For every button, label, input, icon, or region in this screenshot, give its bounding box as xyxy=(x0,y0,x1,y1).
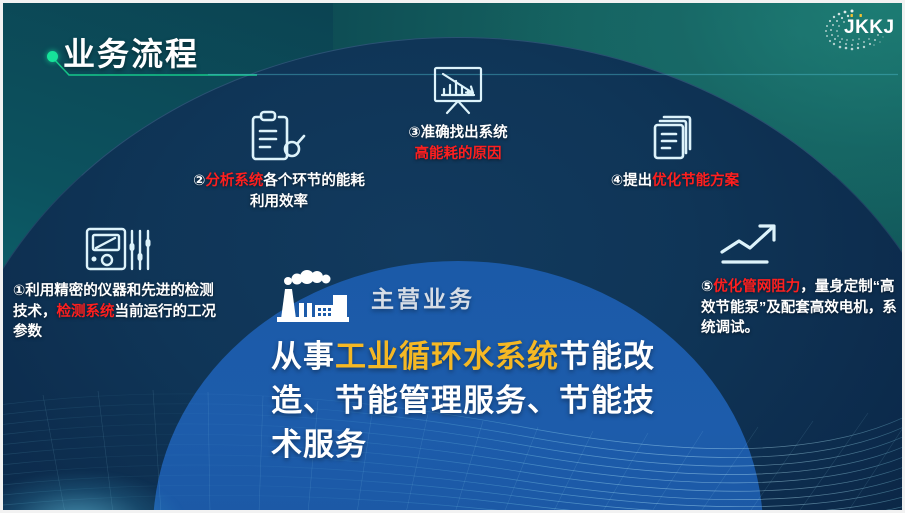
background-glow-bottom-left xyxy=(0,420,273,513)
main-business-header: 主营业务 xyxy=(271,265,671,329)
flow-item-2-caption: ②分析系统各个环节的能耗利用效率 xyxy=(189,171,369,212)
flow-item-5-caption: ⑤优化管网阻力，量身定制“高效节能泵”及配套高效电机，系统调试。 xyxy=(701,277,901,339)
flow-item-5-part-1: 优化管网阻力 xyxy=(713,279,800,295)
factory-icon xyxy=(271,267,357,327)
flow-item-4-part-1: 优化节能方案 xyxy=(652,173,739,189)
main-business-label: 主营业务 xyxy=(371,280,475,314)
title-rule-extension xyxy=(208,73,898,76)
main-business-part-0: 从事 xyxy=(271,339,335,374)
flow-item-3[interactable]: ③准确找出系统高能耗的原因 xyxy=(363,65,553,164)
documents-icon xyxy=(649,111,701,163)
flow-item-4-part-0: ④提出 xyxy=(611,173,652,189)
main-business-body: 从事工业循环水系统节能改造、节能管理服务、节能技术服务 xyxy=(271,335,671,467)
flow-item-5-part-0: ⑤ xyxy=(701,279,713,295)
flow-item-3-caption: ③准确找出系统高能耗的原因 xyxy=(363,123,553,164)
trend-up-icon xyxy=(717,221,789,271)
flow-item-4[interactable]: ④提出优化节能方案 xyxy=(575,111,775,192)
main-business-block: 主营业务 从事工业循环水系统节能改造、节能管理服务、节能技术服务 xyxy=(271,265,671,467)
flow-item-3-part-0: ③准确找出系统 xyxy=(363,123,553,144)
flow-item-1[interactable]: ①利用精密的仪器和先进的检测技术，检测系统当前运行的工况参数 xyxy=(13,225,228,343)
page-title-text: 业务流程 xyxy=(63,29,199,75)
slide-canvas: 业务流程 xyxy=(0,0,905,513)
main-business-part-1: 工业循环水系统 xyxy=(335,339,559,374)
multimeter-icon xyxy=(83,225,153,275)
flow-item-5[interactable]: ⑤优化管网阻力，量身定制“高效节能泵”及配套高效电机，系统调试。 xyxy=(701,221,901,339)
flow-item-1-part-1: 检测系统 xyxy=(57,304,115,320)
brand-logo: JKKJ xyxy=(814,7,888,51)
flow-item-2-part-2: 各个环节的能耗利用效率 xyxy=(250,173,365,210)
flow-item-1-caption: ①利用精密的仪器和先进的检测技术，检测系统当前运行的工况参数 xyxy=(13,281,228,343)
flow-item-4-caption: ④提出优化节能方案 xyxy=(575,171,775,192)
clipboard-search-icon xyxy=(247,109,311,165)
title-bullet-dot xyxy=(47,51,58,62)
flow-item-2-part-0: ② xyxy=(193,173,205,189)
flow-item-2-part-1: 分析系统 xyxy=(205,173,263,189)
bar-chart-board-icon xyxy=(429,65,487,115)
flow-item-3-part-1: 高能耗的原因 xyxy=(363,144,553,165)
logo-wordmark: JKKJ xyxy=(844,17,895,39)
flow-item-2[interactable]: ②分析系统各个环节的能耗利用效率 xyxy=(189,109,369,212)
